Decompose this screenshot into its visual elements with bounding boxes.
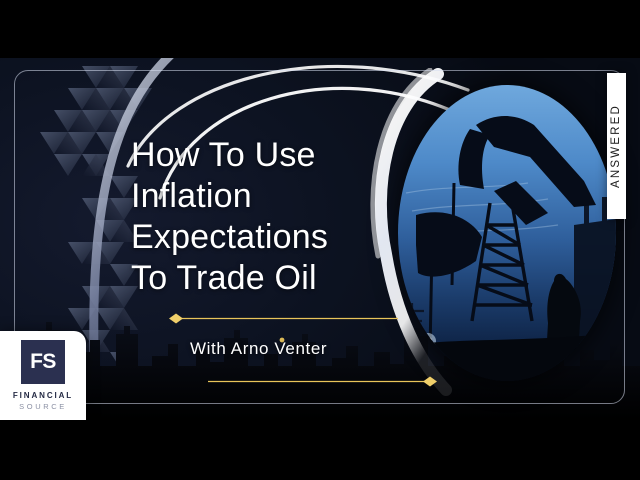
logo-name-line-2: SOURCE: [19, 401, 67, 412]
letterbox-bar-top: [0, 0, 640, 58]
financial-source-logo: FS FINANCIAL SOURCE: [0, 331, 86, 420]
title-line-2: Inflation: [131, 176, 401, 217]
thumbnail-subtitle-group: With Arno Venter: [160, 313, 430, 393]
oil-pumpjack-photo: [398, 85, 616, 381]
presenter-name: With Arno Venter: [190, 339, 327, 359]
pumpjack-silhouette: [398, 85, 616, 381]
letterbox-bar-bottom: [0, 420, 640, 480]
gold-rule-bottom: [208, 376, 438, 387]
video-thumbnail: How To Use Inflation Expectations To Tra…: [0, 0, 640, 480]
logo-monogram-square: FS: [21, 340, 65, 384]
gold-rule-top: [168, 313, 398, 324]
title-line-4: To Trade Oil: [131, 258, 401, 299]
logo-monogram-text: FS: [30, 350, 56, 374]
answered-badge-label: ANSWERED: [611, 104, 623, 188]
title-line-3: Expectations: [131, 217, 401, 258]
thumbnail-title: How To Use Inflation Expectations To Tra…: [131, 135, 401, 299]
logo-name-line-1: FINANCIAL: [13, 390, 73, 401]
title-line-1: How To Use: [131, 135, 401, 176]
answered-badge: ANSWERED: [607, 73, 626, 219]
thumbnail-content-band: How To Use Inflation Expectations To Tra…: [0, 58, 640, 420]
